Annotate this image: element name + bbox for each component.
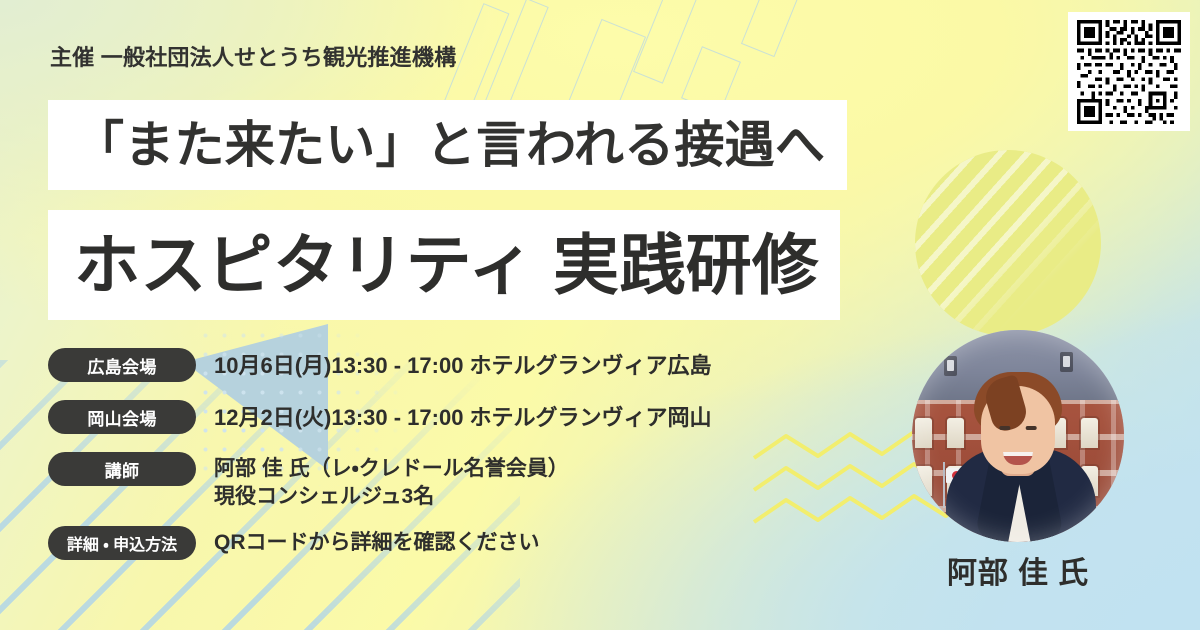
info-row-okayama: 岡山会場 12月2日(火)13:30 - 17:00 ホテルグランヴィア岡山 — [48, 400, 748, 434]
info-value-speaker-line1: 阿部 佳 氏（レ・クレドール名誉会員） — [214, 457, 569, 480]
photo-vignette — [912, 330, 1124, 542]
title-line-2: ホスピタリティ 実践研修 — [74, 232, 818, 298]
info-row-detail: 詳細 ・ 申込方法 QRコードから詳細を確認ください — [48, 526, 748, 560]
info-row-hiroshima: 広島会場 10月6日(月)13:30 - 17:00 ホテルグランヴィア広島 — [48, 348, 748, 382]
info-label-okayama: 岡山会場 — [48, 400, 196, 434]
info-value-hiroshima: 10月6日(月)13:30 - 17:00 ホテルグランヴィア広島 — [214, 348, 712, 380]
info-value-detail: QRコードから詳細を確認ください — [214, 526, 540, 557]
info-label-hiroshima: 広島会場 — [48, 348, 196, 382]
info-row-speaker: 講師 阿部 佳 氏（レ・クレドール名誉会員） 現役コンシェルジュ3名 — [48, 452, 748, 510]
info-value-okayama: 12月2日(火)13:30 - 17:00 ホテルグランヴィア岡山 — [214, 400, 712, 432]
title-bar-primary: 「また来たい」と言われる接遇へ — [48, 100, 847, 190]
info-label-detail: 詳細 ・ 申込方法 — [48, 526, 196, 560]
info-list: 広島会場 10月6日(月)13:30 - 17:00 ホテルグランヴィア広島 岡… — [48, 348, 748, 560]
title-bar-secondary: ホスピタリティ 実践研修 — [48, 210, 840, 320]
organizer-line: 主催 一般社団法人せとうち観光推進機構 — [50, 40, 456, 72]
speaker-portrait-wrap — [912, 330, 1124, 542]
info-value-speaker-line2: 現役コンシェルジュ3名 — [214, 483, 569, 511]
qr-code-card[interactable] — [1068, 12, 1190, 131]
speaker-photo — [912, 330, 1124, 542]
qr-code[interactable] — [1077, 20, 1181, 124]
poster-canvas: 主催 一般社団法人せとうち観光推進機構 「また来たい」と言われる接遇へ ホスピタ… — [0, 0, 1200, 630]
title-line-1: 「また来たい」と言われる接遇へ — [74, 120, 825, 170]
info-value-speaker: 阿部 佳 氏（レ・クレドール名誉会員） 現役コンシェルジュ3名 — [214, 452, 569, 510]
speaker-name-caption: 阿部 佳 氏 — [912, 548, 1124, 592]
info-label-speaker: 講師 — [48, 452, 196, 486]
